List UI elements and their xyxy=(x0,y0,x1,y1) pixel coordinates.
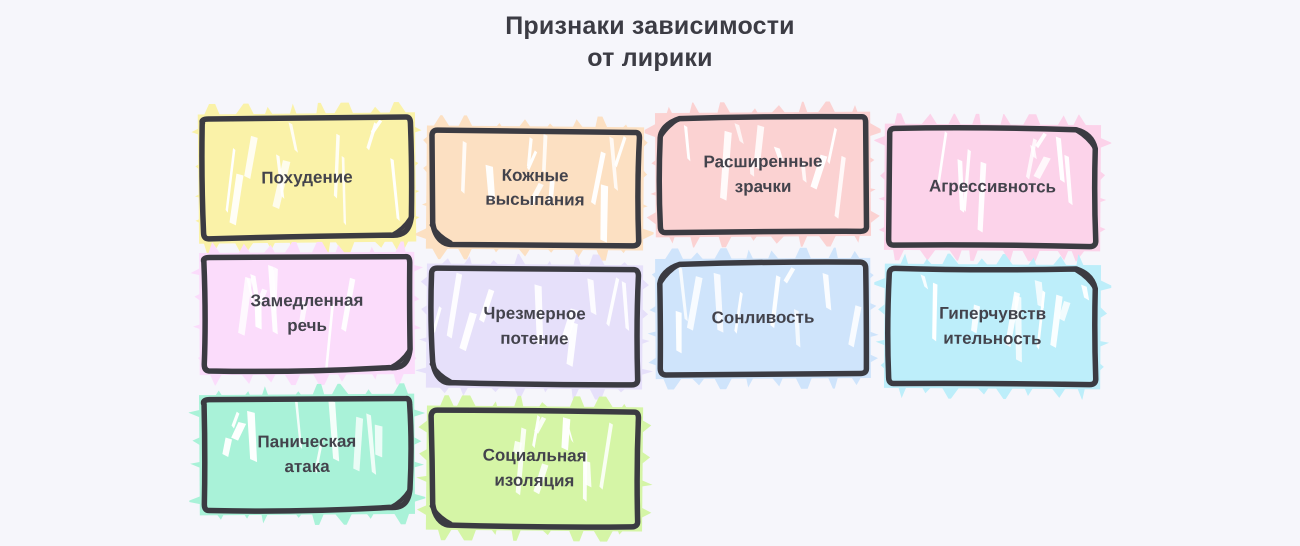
card-sonlivost[interactable]: Сонливость xyxy=(659,261,868,375)
card-chrezmernoe-potenie[interactable]: Чрезмерное потение xyxy=(429,267,639,386)
card-giperchuvstvitelnost[interactable]: Гиперчувств ительность xyxy=(888,267,1098,385)
card-socialnaya-izolyaciya-shape xyxy=(429,409,639,528)
card-socialnaya-izolyaciya[interactable]: Социальная изоляция xyxy=(429,409,639,528)
card-panicheskaya-ataka[interactable]: Паническая атака xyxy=(203,397,412,511)
card-pohudenie[interactable]: Похудение xyxy=(201,116,412,240)
card-rasshirennye-zrachki[interactable]: Расширенные зрачки xyxy=(659,115,868,233)
card-chrezmernoe-potenie-shape xyxy=(429,267,639,386)
card-agressivnotsj[interactable]: Агрессивнотсь xyxy=(888,127,1098,247)
card-kozhnye-vysypaniya[interactable]: Кожные высыпания xyxy=(429,129,640,247)
card-zamedlennaya-rech[interactable]: Замедленная речь xyxy=(203,255,412,371)
card-panicheskaya-ataka-shape xyxy=(203,397,412,511)
card-giperchuvstvitelnost-shape xyxy=(888,267,1098,385)
sticky-note-board: ПохудениеКожные высыпанияРасширенные зра… xyxy=(0,0,1300,546)
card-kozhnye-vysypaniya-shape xyxy=(429,129,640,247)
card-sonlivost-shape xyxy=(659,261,868,375)
card-rasshirennye-zrachki-shape xyxy=(659,115,868,233)
card-agressivnotsj-shape xyxy=(888,127,1098,247)
card-zamedlennaya-rech-shape xyxy=(203,255,412,371)
card-pohudenie-shape xyxy=(201,116,412,240)
